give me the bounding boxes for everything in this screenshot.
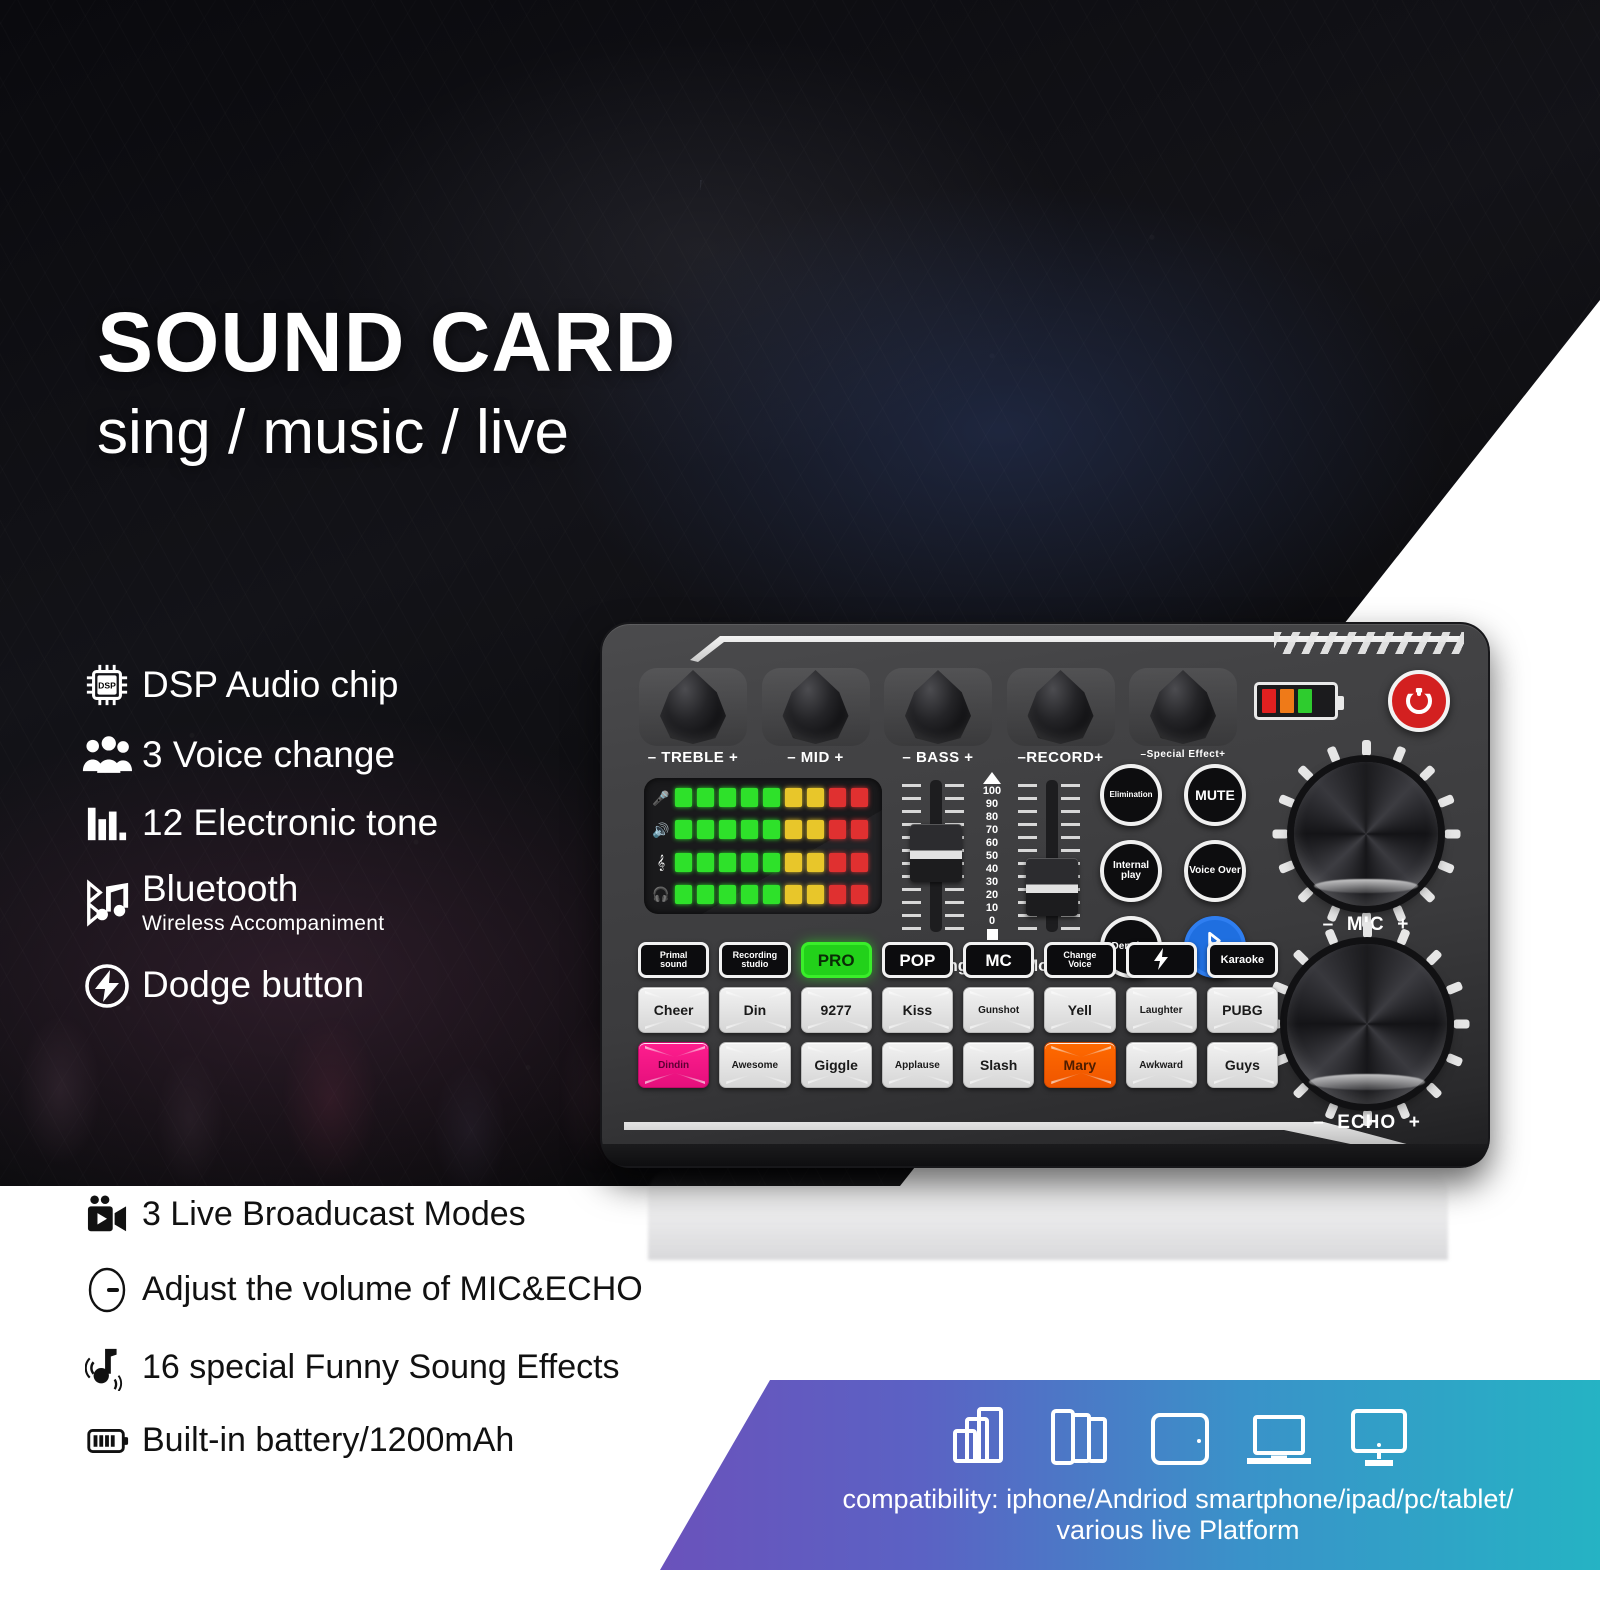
led-cell <box>851 885 868 904</box>
fader-backing-track[interactable] <box>902 780 964 932</box>
knob-label: – TREBLE + <box>648 749 738 766</box>
compatibility-line-1: compatibility: iphone/Andriod smartphone… <box>843 1484 1514 1514</box>
device-top-dashes <box>1274 632 1464 654</box>
knob-seat <box>1007 668 1115 746</box>
knob-record[interactable]: –RECORD+ <box>1006 668 1116 766</box>
chevron-up-icon <box>808 991 868 1002</box>
speaker-icon: 🔊 <box>652 823 670 837</box>
sfx-button-applause[interactable]: Applause <box>882 1042 953 1088</box>
chevron-up-icon <box>645 991 705 1002</box>
chevron-up-icon <box>889 991 949 1002</box>
knob-tick <box>1272 830 1288 839</box>
knob-tick <box>1363 922 1372 938</box>
sound-card-device: – TREBLE + – MID + – BASS + –RECORD+ –Sp… <box>600 622 1490 1168</box>
mode-button-change-voice[interactable]: ChangeVoice <box>1044 942 1115 978</box>
button-label: PRO <box>818 952 855 969</box>
bluetooth-music-icon <box>72 879 142 927</box>
tablet-icon <box>1149 1409 1211 1476</box>
power-button[interactable] <box>1388 670 1450 732</box>
led-cell <box>829 788 846 807</box>
page-subtitle: sing / music / live <box>97 402 997 464</box>
led-cell <box>719 820 736 839</box>
knob-seat <box>884 668 992 746</box>
led-cell <box>785 820 802 839</box>
button-label: Internal play <box>1104 861 1158 881</box>
led-cell <box>741 885 758 904</box>
mode-button-pop[interactable]: POP <box>882 942 953 978</box>
button-label: Primalsound <box>660 951 688 969</box>
knob-tick <box>1292 949 1310 967</box>
knob-cap-icon[interactable] <box>1028 670 1094 744</box>
fader-scale: 1009080706050403020100 <box>974 772 1010 944</box>
button-label: Awkward <box>1139 1060 1183 1071</box>
feature-list-top: DSP DSP Audio chip 3 Voice change <box>72 662 592 1036</box>
dsp-chip-icon: DSP <box>72 662 142 708</box>
button-label: Voice Over <box>1189 866 1241 876</box>
fader-scale-tick: 70 <box>986 824 998 837</box>
knob-label: –RECORD+ <box>1017 749 1103 766</box>
button-label: MUTE <box>1195 788 1235 802</box>
led-cell <box>741 820 758 839</box>
fader-scale-tick: 0 <box>989 915 995 928</box>
led-meter-row: 🎧 <box>652 885 874 904</box>
led-cell <box>675 820 692 839</box>
led-cell <box>807 885 824 904</box>
knob-cap-icon[interactable] <box>660 670 726 744</box>
knob-tick <box>1292 1082 1310 1100</box>
svg-text:DSP: DSP <box>98 680 116 690</box>
mic-volume-knob[interactable] <box>1294 762 1438 906</box>
feature-sublabel: Wireless Accompaniment <box>142 912 384 936</box>
sfx-button-row-1: CheerDin9277KissGunshotYellLaughterPUBG <box>638 987 1278 1033</box>
knob-cap-icon[interactable] <box>783 670 849 744</box>
led-cell <box>851 820 868 839</box>
sfx-button-giggle[interactable]: Giggle <box>801 1042 872 1088</box>
knob-tick <box>1425 949 1443 967</box>
knob-tick <box>1392 745 1406 763</box>
knob-tick <box>1296 886 1314 904</box>
knob-tick <box>1296 764 1314 782</box>
compatibility-banner: compatibility: iphone/Andriod smartphone… <box>660 1380 1600 1570</box>
knob-tick <box>1277 794 1295 808</box>
fader-scale-tick: 30 <box>986 876 998 889</box>
button-label: PUBG <box>1222 1002 1262 1018</box>
echo-volume-knob-wrap: – ECHO + <box>1272 944 1462 1104</box>
music-note-icon: 𝄞 <box>652 855 670 869</box>
headline-block: SOUND CARD sing / music / live <box>97 300 997 464</box>
eq-knob-row: – TREBLE + – MID + – BASS + –RECORD+ –Sp… <box>638 668 1238 766</box>
headphone-icon: 🎧 <box>652 887 670 901</box>
button-label: Dindin <box>658 1060 689 1071</box>
mode-button-row: PrimalsoundRecordingstudioPROPOPMCChange… <box>638 942 1278 978</box>
mic-volume-knob-wrap: – MIC + <box>1280 762 1452 906</box>
chevron-down-icon <box>808 1018 868 1029</box>
button-label: Laughter <box>1140 1005 1183 1016</box>
led-cell <box>675 853 692 872</box>
knob-tick <box>1362 740 1371 756</box>
mode-button-karaoke[interactable]: Karaoke <box>1207 942 1278 978</box>
button-label: Awesome <box>732 1060 779 1071</box>
feature-label: Adjust the volume of MIC&ECHO <box>142 1272 643 1308</box>
led-cell <box>807 853 824 872</box>
knob-tick <box>1418 886 1436 904</box>
button-label: Guys <box>1225 1057 1260 1073</box>
feature-label: 3 Live Broaducast Modes <box>142 1197 526 1233</box>
mode-button-recording-studio[interactable]: Recordingstudio <box>719 942 790 978</box>
battery-cell-1 <box>1280 689 1294 713</box>
battery-cell-0 <box>1262 689 1276 713</box>
knob-treble[interactable]: – TREBLE + <box>638 668 748 766</box>
knob-tick <box>1436 860 1454 874</box>
led-meter-row: 𝄞 <box>652 853 874 872</box>
voice-change-icon <box>72 734 142 776</box>
chevron-up-icon <box>1133 1046 1193 1057</box>
button-elimination[interactable]: Elimination <box>1100 764 1162 826</box>
effect-button-grid: PrimalsoundRecordingstudioPROPOPMCChange… <box>638 942 1278 1097</box>
knob-cap-icon[interactable] <box>1150 670 1216 744</box>
fader-scale-tick: 20 <box>986 889 998 902</box>
chevron-down-icon <box>970 1018 1030 1029</box>
led-cell <box>697 885 714 904</box>
led-meter-row: 🔊 <box>652 820 874 839</box>
feature-item-battery: Built-in battery/1200mAh <box>72 1423 772 1459</box>
mode-button-pro[interactable]: PRO <box>801 942 872 978</box>
button-label: Din <box>744 1002 767 1018</box>
led-cell <box>697 820 714 839</box>
battery-icon <box>72 1425 142 1457</box>
chevron-down-icon <box>645 1073 705 1084</box>
button-mute[interactable]: MUTE <box>1184 764 1246 826</box>
knob-label: – MID + <box>787 749 843 766</box>
knob-tick <box>1277 860 1295 874</box>
led-cell <box>719 788 736 807</box>
chevron-down-icon <box>726 1018 786 1029</box>
led-cell <box>719 853 736 872</box>
mode-button-primal-sound[interactable]: Primalsound <box>638 942 709 978</box>
chevron-up-icon <box>726 991 786 1002</box>
led-cell <box>851 788 868 807</box>
button-label: MC <box>985 952 1011 969</box>
chevron-up-icon <box>1133 991 1193 1002</box>
video-camera-icon <box>72 1195 142 1235</box>
echo-knob-label: – ECHO + <box>1272 1112 1462 1134</box>
scale-arrow-icon <box>983 772 1001 784</box>
chevron-down-icon <box>889 1073 949 1084</box>
knob-tick <box>1418 764 1436 782</box>
button-label: Recordingstudio <box>733 951 778 969</box>
fader-scale-tick: 60 <box>986 837 998 850</box>
knob-cap-icon[interactable] <box>905 670 971 744</box>
device-reflection <box>648 1168 1448 1260</box>
sfx-button-gunshot[interactable]: Gunshot <box>963 987 1034 1033</box>
fader-scale-tick: 10 <box>986 902 998 915</box>
button-label: Kiss <box>903 1002 933 1018</box>
compatibility-line-2: various live Platform <box>843 1515 1514 1545</box>
led-cell <box>697 853 714 872</box>
chevron-up-icon <box>889 1046 949 1057</box>
knob-tick <box>1445 981 1463 995</box>
led-cell <box>763 820 780 839</box>
chevron-down-icon <box>645 1018 705 1029</box>
feature-item-volume-adjust: Adjust the volume of MIC&ECHO <box>72 1267 772 1313</box>
chevron-down-icon <box>970 1073 1030 1084</box>
chevron-up-icon <box>1051 991 1111 1002</box>
mic-icon: 🎤 <box>652 791 670 805</box>
feature-label: DSP Audio chip <box>142 666 398 705</box>
knob-special-effect[interactable]: –Special Effect+ <box>1128 668 1238 766</box>
sfx-button-guys[interactable]: Guys <box>1207 1042 1278 1088</box>
echo-volume-knob[interactable] <box>1287 944 1447 1104</box>
led-cell <box>741 788 758 807</box>
chevron-up-icon <box>726 1046 786 1057</box>
led-cell <box>697 788 714 807</box>
feature-label: 3 Voice change <box>142 736 395 775</box>
button-label: Gunshot <box>978 1005 1019 1016</box>
feature-label: 16 special Funny Soung Effects <box>142 1350 620 1386</box>
knob-tick <box>1436 794 1454 808</box>
fader-group: 1009080706050403020100 <box>902 772 1080 950</box>
fader-scale-tick: 100 <box>983 785 1001 798</box>
chevron-up-icon <box>808 1046 868 1057</box>
led-cell <box>807 820 824 839</box>
sfx-button-slash[interactable]: Slash <box>963 1042 1034 1088</box>
chevron-down-icon <box>1214 1073 1274 1084</box>
chevron-up-icon <box>970 991 1030 1002</box>
chevron-up-icon <box>1214 991 1274 1002</box>
chevron-down-icon <box>1051 1073 1111 1084</box>
compatibility-icon-row <box>949 1405 1411 1476</box>
button-label: 9277 <box>821 1002 852 1018</box>
feature-item-bluetooth: Bluetooth Wireless Accompaniment <box>72 870 592 936</box>
knob-tick <box>1453 1020 1469 1029</box>
knob-mid[interactable]: – MID + <box>761 668 871 766</box>
button-label: ChangeVoice <box>1063 951 1096 969</box>
feature-item-dsp: DSP DSP Audio chip <box>72 662 592 708</box>
music-note-sound-icon <box>72 1345 142 1391</box>
led-cell <box>785 853 802 872</box>
button-label: Giggle <box>814 1057 858 1073</box>
led-cell <box>741 853 758 872</box>
chevron-up-icon <box>1214 1046 1274 1057</box>
led-cell <box>851 853 868 872</box>
compatibility-text: compatibility: iphone/Andriod smartphone… <box>843 1484 1514 1544</box>
knob-tick <box>1444 830 1460 839</box>
chevron-down-icon <box>889 1018 949 1029</box>
sfx-button-mary[interactable]: Mary <box>1044 1042 1115 1088</box>
led-cell <box>675 788 692 807</box>
monitor-icon <box>1347 1407 1411 1476</box>
sfx-button-kiss[interactable]: Kiss <box>882 987 953 1033</box>
knob-tick <box>1425 1082 1443 1100</box>
knob-seat <box>639 668 747 746</box>
chevron-down-icon <box>1214 1018 1274 1029</box>
led-cell <box>785 788 802 807</box>
chevron-down-icon <box>1133 1018 1193 1029</box>
led-level-meter: 🎤🔊𝄞🎧 <box>644 778 882 914</box>
device-bottom-edge <box>602 1144 1488 1166</box>
sfx-button-pubg[interactable]: PUBG <box>1207 987 1278 1033</box>
knob-label: –Special Effect+ <box>1141 749 1226 760</box>
fader-scale-tick: 90 <box>986 798 998 811</box>
lightning-bolt-icon <box>1153 948 1169 973</box>
fader-scale-tick: 80 <box>986 811 998 824</box>
sfx-button-row-2: DindinAwesomeGiggleApplauseSlashMaryAwkw… <box>638 1042 1278 1088</box>
knob-tick <box>1445 1053 1463 1067</box>
sfx-button-laughter[interactable]: Laughter <box>1126 987 1197 1033</box>
led-cell <box>719 885 736 904</box>
chevron-down-icon <box>808 1073 868 1084</box>
chevron-up-icon <box>970 1046 1030 1057</box>
poster-canvas: SOUND CARD sing / music / live <box>0 0 1600 1600</box>
led-cell <box>763 885 780 904</box>
led-cell <box>763 853 780 872</box>
mode-button-dodge[interactable] <box>1126 942 1197 978</box>
laptop-icon <box>1245 1411 1313 1476</box>
feature-item-sound-effects: 16 special Funny Soung Effects <box>72 1345 772 1391</box>
button-label: Karaoke <box>1221 955 1264 966</box>
battery-cell-2 <box>1298 689 1312 713</box>
fader-handle[interactable] <box>910 824 962 882</box>
fader-handle[interactable] <box>1026 858 1078 916</box>
phone-trio-icon <box>1049 1405 1115 1476</box>
chevron-down-icon <box>1051 1018 1111 1029</box>
battery-indicator <box>1254 682 1338 720</box>
knob-dial-icon <box>72 1267 142 1313</box>
chevron-down-icon <box>1133 1073 1193 1084</box>
led-cell <box>675 885 692 904</box>
feature-item-dodge: Dodge button <box>72 962 592 1010</box>
sfx-button-din[interactable]: Din <box>719 987 790 1033</box>
button-label: POP <box>899 952 935 969</box>
feature-label: 12 Electronic tone <box>142 804 438 843</box>
knob-seat <box>1129 668 1237 746</box>
knob-label: – BASS + <box>902 749 973 766</box>
led-cell <box>829 885 846 904</box>
feature-item-voice-change: 3 Voice change <box>72 734 592 776</box>
chevron-up-icon <box>645 1046 705 1057</box>
button-label: Elimination <box>1109 791 1152 799</box>
sfx-button-awesome[interactable]: Awesome <box>719 1042 790 1088</box>
button-voice-over[interactable]: Voice Over <box>1184 840 1246 902</box>
button-label: Applause <box>895 1060 940 1071</box>
button-internal-play[interactable]: Internal play <box>1100 840 1162 902</box>
feature-label: Bluetooth <box>142 870 384 909</box>
scale-square-icon <box>987 929 998 940</box>
sfx-button-dindin[interactable]: Dindin <box>638 1042 709 1088</box>
mode-button-mc[interactable]: MC <box>963 942 1034 978</box>
knob-seat <box>762 668 870 746</box>
knob-tick <box>1326 745 1340 763</box>
fader-scale-tick: 40 <box>986 863 998 876</box>
led-meter-row: 🎤 <box>652 788 874 807</box>
feature-label: Dodge button <box>142 966 364 1005</box>
page-title: SOUND CARD <box>97 300 997 384</box>
button-label: Slash <box>980 1057 1017 1073</box>
led-cell <box>763 788 780 807</box>
feature-label: Built-in battery/1200mAh <box>142 1423 514 1459</box>
fader-monitor[interactable] <box>1018 780 1080 932</box>
fader-scale-tick: 50 <box>986 850 998 863</box>
power-icon <box>1406 688 1432 714</box>
sfx-button-9277[interactable]: 9277 <box>801 987 872 1033</box>
equalizer-bars-icon <box>72 802 142 844</box>
led-cell <box>785 885 802 904</box>
led-cell <box>829 820 846 839</box>
lightning-bolt-icon <box>72 962 142 1010</box>
led-cell <box>829 853 846 872</box>
phones-stack-icon <box>949 1405 1015 1476</box>
button-label: Yell <box>1068 1002 1092 1018</box>
sfx-button-yell[interactable]: Yell <box>1044 987 1115 1033</box>
sfx-button-awkward[interactable]: Awkward <box>1126 1042 1197 1088</box>
led-cell <box>807 788 824 807</box>
knob-bass[interactable]: – BASS + <box>883 668 993 766</box>
button-label: Cheer <box>654 1002 694 1018</box>
button-label: Mary <box>1064 1057 1097 1073</box>
sfx-button-cheer[interactable]: Cheer <box>638 987 709 1033</box>
chevron-down-icon <box>726 1073 786 1084</box>
feature-item-electronic-tone: 12 Electronic tone <box>72 802 592 844</box>
chevron-up-icon <box>1051 1046 1111 1057</box>
